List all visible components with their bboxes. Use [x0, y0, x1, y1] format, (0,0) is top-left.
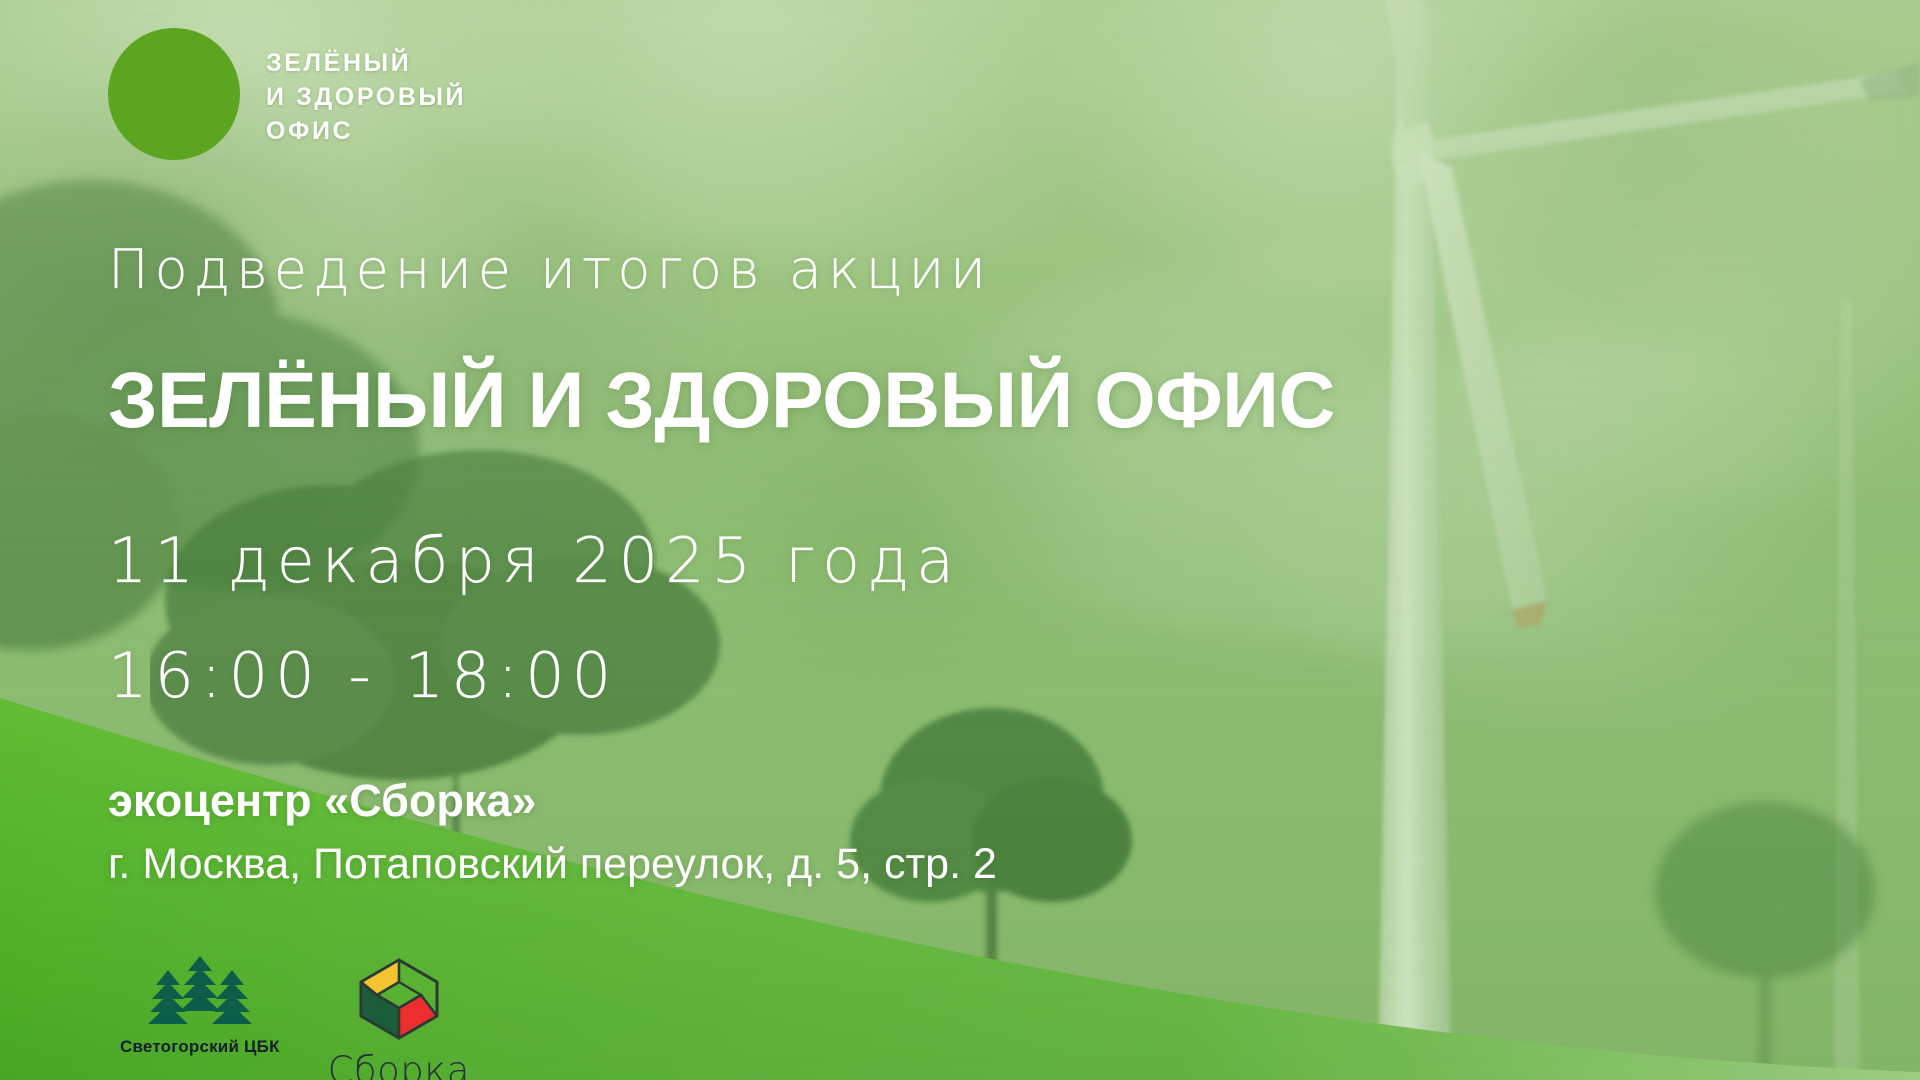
poster-canvas: ЗЕЛЁНЫЙ И ЗДОРОВЫЙ ОФИС Подведение итого… [0, 0, 1920, 1080]
event-time: 16:00 - 18:00 [108, 645, 618, 707]
partner-sborka-text: Сборка экоцентр [328, 1052, 470, 1080]
event-kicker: Подведение итогов акции [108, 243, 992, 297]
partner-sborka: Сборка экоцентр [328, 952, 470, 1080]
poster-content: ЗЕЛЁНЫЙ И ЗДОРОВЫЙ ОФИС Подведение итого… [0, 0, 1920, 1080]
green-circle-mark [108, 28, 240, 160]
brand-logo-text: ЗЕЛЁНЫЙ И ЗДОРОВЫЙ ОФИС [266, 45, 466, 144]
event-venue: экоцентр «Сборка» [108, 778, 536, 823]
event-date: 11 декабря 2025 года [108, 530, 961, 592]
three-fir-trees-icon [144, 952, 256, 1030]
partner-svetogorsk: Светогорский ЦБК [120, 952, 280, 1055]
partner-logos: Светогорский ЦБК Сборка экоц [120, 952, 470, 1080]
brand-logo-line-3: ОФИС [266, 119, 466, 144]
brand-logo: ЗЕЛЁНЫЙ И ЗДОРОВЫЙ ОФИС [108, 28, 466, 160]
partner-sborka-name: Сборка [328, 1052, 470, 1080]
event-headline: ЗЕЛЁНЫЙ И ЗДОРОВЫЙ ОФИС [108, 360, 1335, 439]
partner-svetogorsk-caption: Светогорский ЦБК [120, 1038, 280, 1055]
isometric-open-box-icon [357, 956, 441, 1040]
brand-logo-line-1: ЗЕЛЁНЫЙ [266, 51, 466, 76]
brand-logo-line-2: И ЗДОРОВЫЙ [266, 85, 466, 110]
event-address: г. Москва, Потаповский переулок, д. 5, с… [108, 843, 997, 886]
